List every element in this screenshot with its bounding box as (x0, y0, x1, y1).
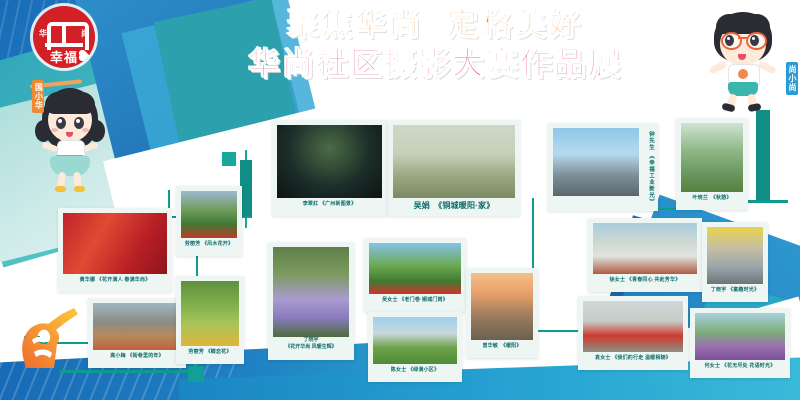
divider-rule-6 (60, 370, 190, 373)
photo-caption: 李翠红 《广州新图景》 (277, 198, 382, 210)
photo-caption-second-line: 《花开华尚 风暖生辉》 (273, 344, 349, 351)
photo-caption: 何女士 《花无尽处 花语时光》 (695, 360, 785, 372)
photo-image (553, 128, 639, 196)
title-part-b: 定格美好 (447, 8, 583, 41)
photo-card[interactable]: 黄华娜 《花开满人 春满华尚》 (58, 208, 172, 292)
photo-card[interactable]: 劳丽芳 《凤木花开》 (176, 186, 242, 256)
photo-caption: 陈女士 《绿满小区》 (373, 364, 457, 376)
photo-card[interactable]: 何女士 《花无尽处 花语时光》 (690, 308, 790, 378)
photo-caption: 徐女士 《青春同心 共赴芳华》 (593, 274, 697, 286)
photo-card[interactable]: 曾华敏 《暖阳》 (466, 268, 538, 358)
logo-char-right: 尚 (81, 30, 89, 38)
photo-image (277, 125, 382, 198)
photo-caption: 劳丽芳 《凤木花开》 (181, 238, 237, 250)
boy-mascot (700, 8, 786, 108)
photo-card[interactable]: 吴娟 《铜城暖阳·家》 (388, 120, 520, 216)
divider-bar-2 (756, 110, 770, 200)
community-logo: 华 尚 幸福 (33, 6, 95, 68)
photo-image (593, 223, 697, 274)
photo-caption: 丁晓宇 (273, 337, 349, 344)
photo-caption: 高小梅 《街巷里的年》 (93, 350, 181, 362)
photo-card[interactable]: 劳丽芳 《蝶恋花》 (176, 276, 244, 364)
photo-card[interactable]: 高小梅 《街巷里的年》 (88, 298, 186, 368)
title-part-a: 聚焦华尚 (287, 8, 423, 41)
photo-image (181, 281, 239, 346)
title-line-1: 聚焦华尚定格美好 (190, 8, 680, 43)
photo-image (681, 123, 743, 192)
logo-char-left: 华 (39, 30, 47, 38)
boy-mascot-tag: 尚小尚 (786, 62, 798, 95)
photo-image (63, 213, 167, 274)
photo-image (181, 191, 237, 238)
photo-image (373, 317, 457, 364)
divider-square-1 (222, 152, 236, 166)
photo-caption: 黄华娜 《花开满人 春满华尚》 (63, 274, 167, 286)
photo-image (93, 303, 181, 350)
photo-image (695, 313, 785, 360)
poster-board: 华 尚 幸福 聚焦华尚定格美好 华尚社区摄影大赛作品展 国小华 (0, 0, 800, 400)
divider-square-2 (188, 366, 204, 382)
girl-mascot-tag: 国小华 (32, 80, 44, 113)
photo-caption: 丁晓宇 《童趣时光》 (707, 284, 763, 296)
photographer-silhouette-icon (12, 300, 84, 370)
photo-caption: 曾华敏 《暖阳》 (471, 340, 533, 352)
photo-caption: 钟先生 《幸福工业新光》 (647, 131, 655, 205)
photo-card[interactable]: 丁晓宇 《童趣时光》 (702, 222, 768, 302)
photo-image (583, 301, 683, 352)
photo-image (369, 243, 461, 294)
photo-card[interactable]: 叶晓兰 《秋憩》 (676, 118, 748, 210)
photo-caption: 叶晓兰 《秋憩》 (681, 192, 743, 204)
photo-caption: 袁女士 《我们的行走 温暖相随》 (583, 352, 683, 364)
photo-card[interactable]: 吴女士 《老门卷·铜城门岗》 (364, 238, 466, 312)
photo-card[interactable]: 徐女士 《青春同心 共赴芳华》 (588, 218, 702, 292)
photo-image (471, 273, 533, 340)
photo-card[interactable]: 钟先生 《幸福工业新光》 (548, 123, 658, 211)
photo-caption: 吴女士 《老门卷·铜城门岗》 (369, 294, 461, 306)
poster-title: 聚焦华尚定格美好 华尚社区摄影大赛作品展 (190, 8, 680, 82)
photo-card[interactable]: 袁女士 《我们的行走 温暖相随》 (578, 296, 688, 370)
title-line-2: 华尚社区摄影大赛作品展 (190, 45, 680, 82)
photo-image (393, 125, 515, 198)
photo-caption: 吴娟 《铜城暖阳·家》 (393, 198, 515, 214)
photo-card[interactable]: 李翠红 《广州新图景》 (272, 120, 387, 216)
photo-image (273, 247, 349, 337)
photo-card[interactable]: 陈女士 《绿满小区》 (368, 312, 462, 382)
photo-caption: 劳丽芳 《蝶恋花》 (181, 346, 239, 358)
photo-image (707, 227, 763, 284)
photo-card[interactable]: 丁晓宇 《花开华尚 风暖生辉》 (268, 242, 354, 360)
